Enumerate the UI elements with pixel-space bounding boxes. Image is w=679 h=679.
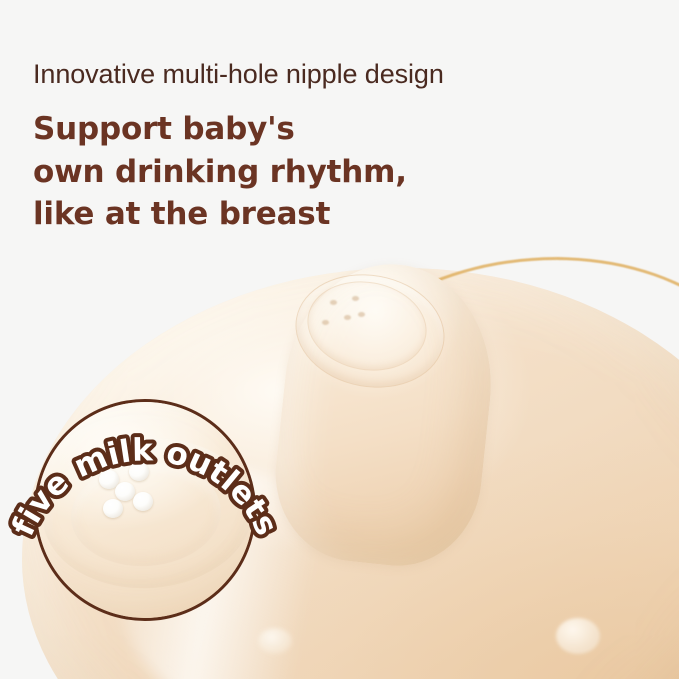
nipple-hole [330,300,337,305]
page-title-line-3: like at the breast [33,193,653,235]
milk-outlet-dot [115,482,135,501]
milk-outlet-dot [129,462,149,481]
nipple-hole [352,296,359,301]
nipple-hole [358,312,365,317]
page-title: Support baby's own drinking rhythm, like… [33,108,653,234]
page-title-line-1: Support baby's [33,108,653,150]
bottle-nub-secondary [258,628,292,654]
bottle-nub [556,618,600,654]
nipple-hole [344,315,351,320]
page-subtitle: Innovative multi-hole nipple design [33,58,653,90]
product-feature-image: five milk outlets Innovative multi-hole … [0,0,679,679]
nipple-hole [322,320,329,325]
milk-outlet-dot [103,499,123,518]
heading-block: Innovative multi-hole nipple design Supp… [33,58,653,235]
page-title-line-2: own drinking rhythm, [33,151,653,193]
magnifier-circle [34,399,256,621]
milk-outlet-dot [133,492,153,511]
